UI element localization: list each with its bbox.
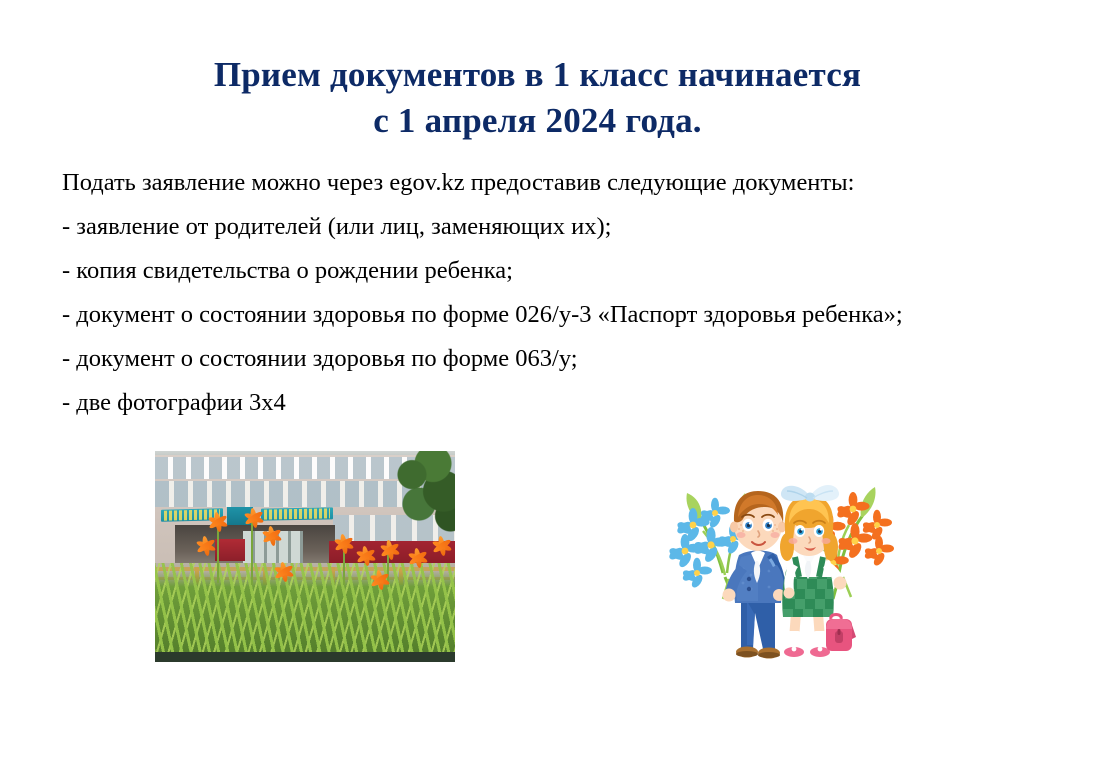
photo-red-plinth-left: [215, 539, 245, 561]
photo-grass-blades: [155, 563, 455, 659]
requirement-item-3: - документ о состоянии здоровья по форме…: [62, 298, 937, 331]
intro-paragraph: Подать заявление можно через egov.kz пре…: [62, 166, 962, 199]
photo-daylily-flower: [261, 525, 283, 547]
photo-daylily-flower: [379, 539, 401, 561]
page-title: Прием документов в 1 класс начинается с …: [0, 52, 1075, 144]
school-building-photo: [155, 451, 455, 662]
photo-daylily-flower: [207, 511, 229, 533]
hair-bow-icon: [781, 485, 839, 502]
photo-daylily-flower: [431, 535, 453, 557]
photo-daylily-flower: [273, 561, 295, 583]
photo-daylily-flower: [333, 533, 355, 555]
photo-bottom-strip: [155, 652, 455, 662]
photo-signage-text-right: [264, 508, 330, 519]
photo-daylily-flower: [195, 535, 217, 557]
title-line-2: с 1 апреля 2024 года.: [0, 98, 1075, 144]
photo-daylily-flower: [355, 545, 377, 567]
title-line-1: Прием документов в 1 класс начинается: [0, 52, 1075, 98]
photo-tree: [391, 451, 455, 539]
requirement-item-4: - документ о состоянии здоровья по форме…: [62, 342, 962, 375]
photo-daylily-flower: [369, 569, 391, 591]
schoolchildren-clipart: [663, 473, 903, 668]
requirement-item-1: - заявление от родителей (или лиц, замен…: [62, 210, 962, 243]
photo-daylily-flower: [407, 547, 429, 569]
requirement-item-5: - две фотографии 3х4: [62, 386, 962, 419]
requirement-item-2: - копия свидетельства о рождении ребенка…: [62, 254, 962, 287]
document-body: Подать заявление можно через egov.kz пре…: [62, 166, 962, 430]
boy-figure: [723, 491, 787, 659]
photo-signage-banner-right: [261, 507, 333, 520]
backpack-icon: [826, 615, 856, 652]
